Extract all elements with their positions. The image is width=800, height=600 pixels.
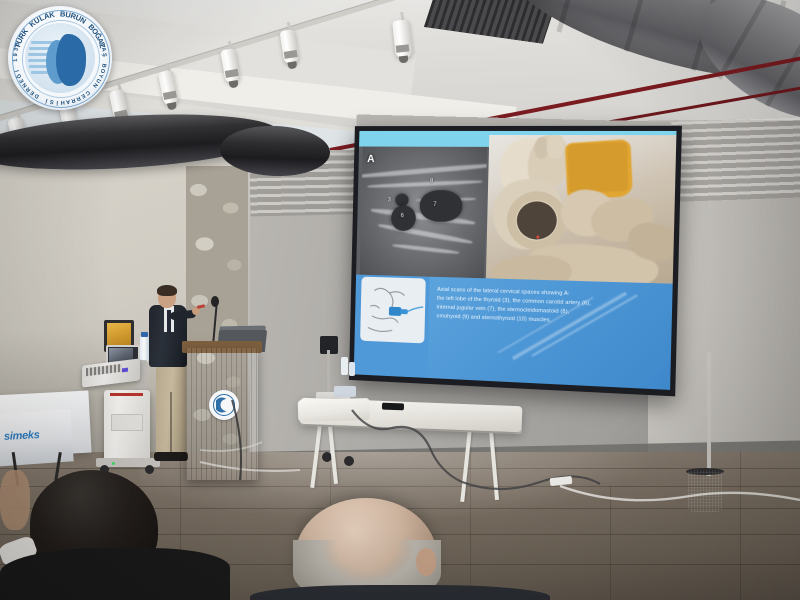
logo-bottom-arc-text: BAŞ BOYUN CERRAHİSİ DERNEĞİ 1930 — [8, 6, 112, 110]
logo-arc-char: H — [60, 99, 64, 105]
slide-content: A 3 6 7 8 — [354, 131, 677, 390]
society-logo-watermark: TÜRK KULAK BURUN BOĞAZ BAŞ BOYUN CERRAHİ… — [8, 6, 112, 110]
slide-caption-text: Axial scans of the lateral cervical spac… — [436, 286, 666, 330]
logo-arc-char: A — [100, 47, 107, 52]
ultrasound-indicator-light — [122, 368, 128, 373]
audience-face-profile — [0, 470, 30, 530]
logo-arc-char: 9 — [13, 53, 19, 57]
logo-arc-char: A — [65, 98, 70, 105]
ultrasound-label-8: 8 — [430, 178, 433, 184]
projected-slide-surface: A 3 6 7 8 — [354, 131, 677, 390]
speaker-hair — [157, 285, 177, 296]
slide-panel-label-a: A — [367, 153, 375, 165]
supply-bottle — [341, 357, 348, 375]
logo-arc-char: 3 — [14, 47, 20, 51]
logo-arc-char: Ş — [101, 53, 107, 57]
ultrasound-label-7: 7 — [433, 202, 436, 208]
logo-arc-char: 0 — [15, 42, 22, 47]
logo-arc-char: 1 — [13, 59, 19, 62]
slide-caption-panel: Axial scans of the lateral cervical spac… — [427, 277, 672, 390]
transducer-placement-diagram — [360, 277, 426, 344]
ultrasound-accent-stripe — [110, 393, 143, 396]
cadaver-dissection-image — [486, 135, 677, 297]
logo-arc-char — [40, 95, 44, 101]
logo-arc-char: S — [50, 98, 55, 105]
supply-bottle — [349, 362, 355, 376]
logo-arc-char: D — [34, 92, 41, 99]
microphone-icon — [211, 296, 219, 307]
audience-ear — [416, 548, 436, 576]
ultrasound-label-6: 6 — [401, 213, 404, 219]
lecture-hall-photo: A 3 6 7 8 — [0, 0, 800, 600]
wastebasket — [688, 470, 722, 512]
gel-bottle — [140, 336, 149, 362]
projection-screen: A 3 6 7 8 — [349, 126, 682, 397]
audience-shoulders — [0, 548, 230, 600]
logo-arc-char: İ — [56, 99, 58, 105]
logo-arc-char: İ — [45, 97, 48, 103]
gel-bottle-cap — [141, 332, 148, 337]
ultrasound-label-3: 3 — [388, 197, 391, 203]
ultrasound-image-panel: A 3 6 7 8 — [360, 147, 487, 279]
logo-arc-char — [14, 64, 20, 67]
logo-arc-char — [101, 59, 107, 61]
logo-arc-char — [89, 86, 94, 91]
audience-shoulders — [250, 585, 550, 600]
supply-box — [334, 386, 356, 397]
head-neck-line-drawing-icon — [360, 277, 426, 344]
